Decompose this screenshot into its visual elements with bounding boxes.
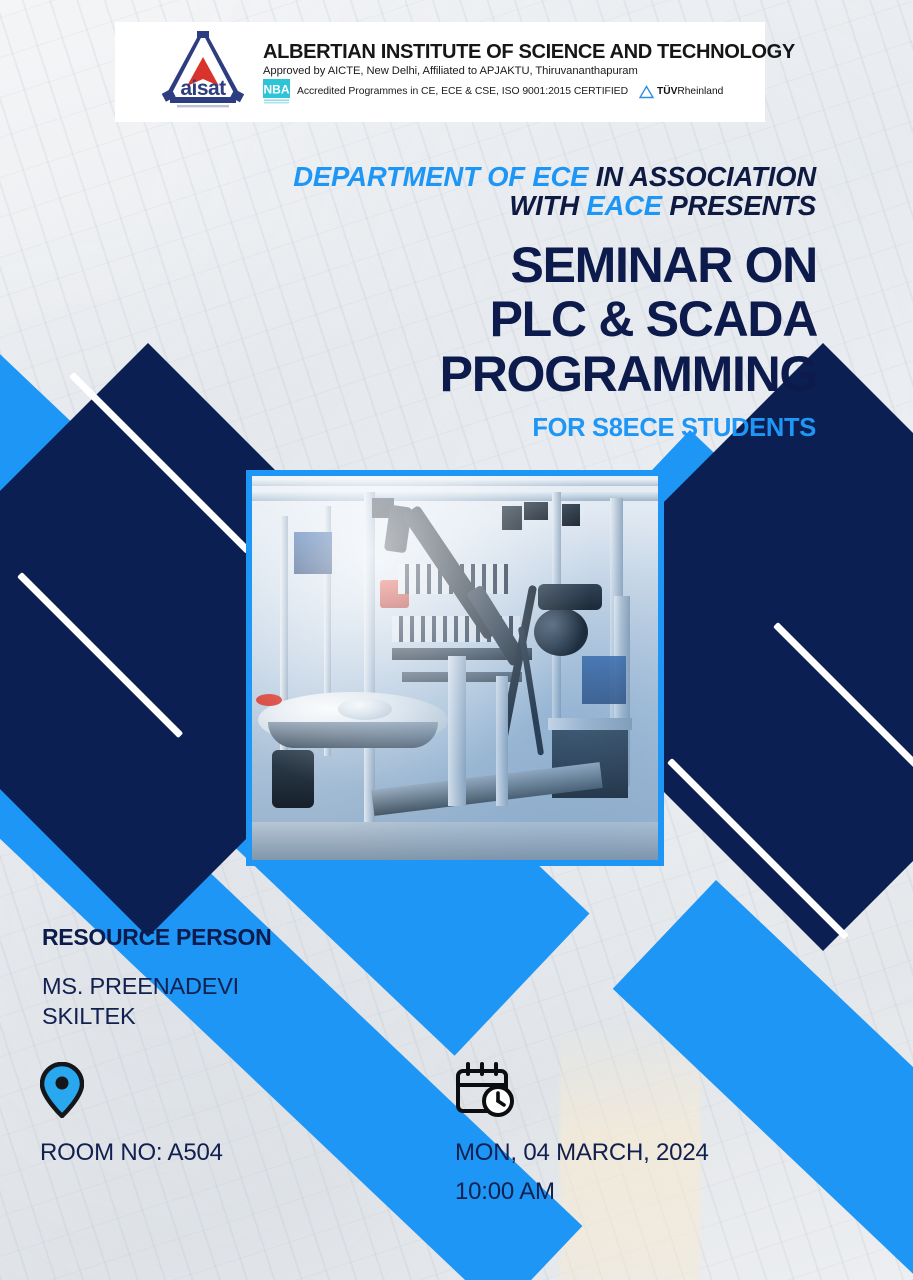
calendar-clock-icon: [455, 1062, 835, 1118]
title-line-1: SEMINAR ON: [180, 238, 817, 292]
accreditation-row: NBA Accredited Programmes in CE, ECE & C…: [263, 79, 806, 105]
resource-person-label: RESOURCE PERSON: [42, 924, 271, 951]
schedule-text: MON, 04 MARCH, 2024 10:00 AM: [455, 1134, 835, 1212]
svg-text:aisat: aisat: [180, 77, 226, 100]
institution-name: ALBERTIAN INSTITUTE OF SCIENCE AND TECHN…: [263, 40, 795, 64]
event-time: 10:00 AM: [455, 1173, 835, 1212]
institution-text-block: ALBERTIAN INSTITUTE OF SCIENCE AND TECHN…: [263, 40, 806, 105]
department-name: DEPARTMENT OF ECE: [293, 161, 588, 192]
venue-text: ROOM NO: A504: [40, 1134, 340, 1173]
accreditation-text: Accredited Programmes in CE, ECE & CSE, …: [297, 86, 628, 97]
event-date: MON, 04 MARCH, 2024: [455, 1134, 835, 1173]
resource-person-name: MS. PREENADEVI SKILTEK: [42, 971, 239, 1031]
institution-header: aisat ALBERTIAN INSTITUTE OF SCIENCE AND…: [115, 22, 765, 122]
association-with-text: WITH: [509, 190, 586, 221]
location-pin-icon: [40, 1062, 340, 1118]
tuv-triangle-icon: [639, 85, 654, 99]
poster-subtitle: FOR S8ECE STUDENTS: [300, 414, 816, 443]
aisat-logo: aisat: [157, 29, 249, 115]
resource-name-line-2: SKILTEK: [42, 1001, 239, 1031]
svg-text:NBA: NBA: [264, 82, 290, 96]
seminar-photo: [252, 476, 658, 860]
tuv-rheinland-mark: TÜVRheinland: [639, 85, 723, 99]
tuv-rest-text: Rheinland: [677, 86, 723, 97]
association-mid-text: IN ASSOCIATION: [588, 161, 816, 192]
seminar-photo-frame: [246, 470, 664, 866]
tuv-bold-text: TÜV: [657, 86, 677, 97]
poster-title: SEMINAR ON PLC & SCADA PROGRAMMING: [180, 238, 817, 401]
title-line-3: PROGRAMMING: [180, 347, 817, 401]
resource-name-line-1: MS. PREENADEVI: [42, 971, 239, 1001]
venue-info: ROOM NO: A504: [40, 1062, 340, 1173]
blue-corner-triangle: [879, 1185, 913, 1219]
title-line-2: PLC & SCADA: [180, 292, 817, 346]
association-line: DEPARTMENT OF ECE IN ASSOCIATION WITH EA…: [200, 162, 816, 220]
tuv-label: TÜVRheinland: [657, 86, 723, 97]
event-poster: aisat ALBERTIAN INSTITUTE OF SCIENCE AND…: [0, 0, 913, 1280]
schedule-info: MON, 04 MARCH, 2024 10:00 AM: [455, 1062, 835, 1212]
nba-logo: NBA: [263, 79, 290, 105]
association-org: EACE: [586, 190, 662, 221]
institution-approval: Approved by AICTE, New Delhi, Affiliated…: [263, 65, 806, 77]
association-presents-text: PRESENTS: [662, 190, 816, 221]
